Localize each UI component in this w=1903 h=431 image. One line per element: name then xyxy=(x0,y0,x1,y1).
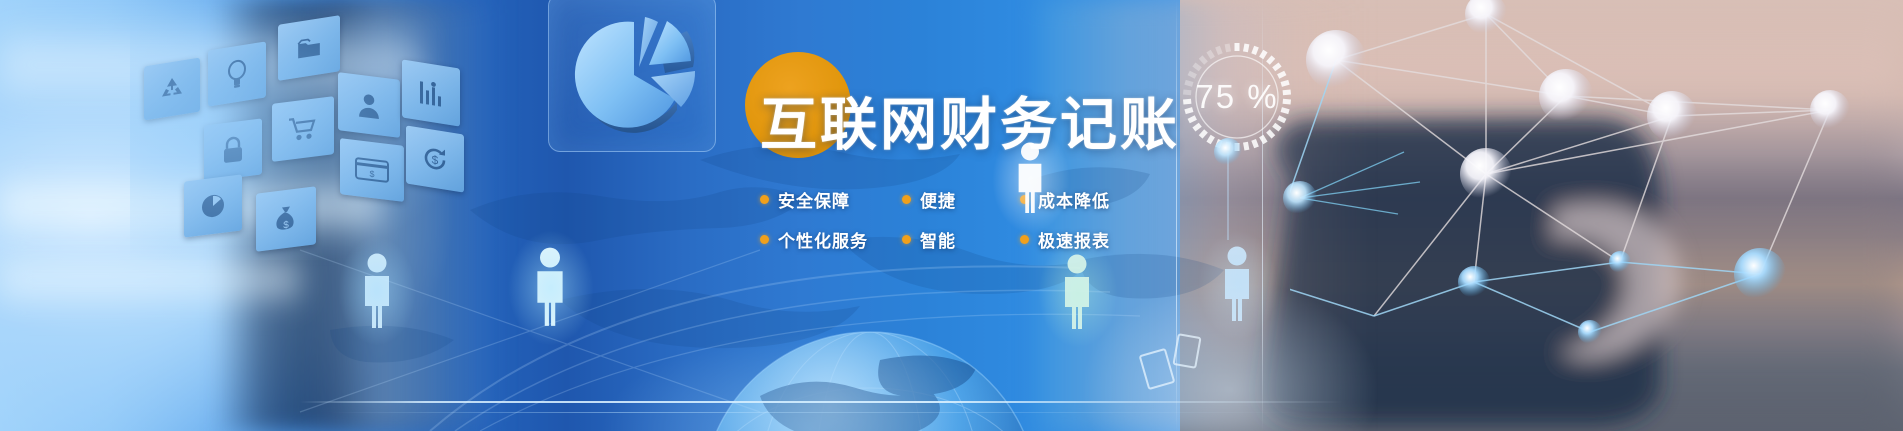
promo-banner: $ $ $ xyxy=(0,0,1903,431)
floating-cards xyxy=(0,0,1903,431)
